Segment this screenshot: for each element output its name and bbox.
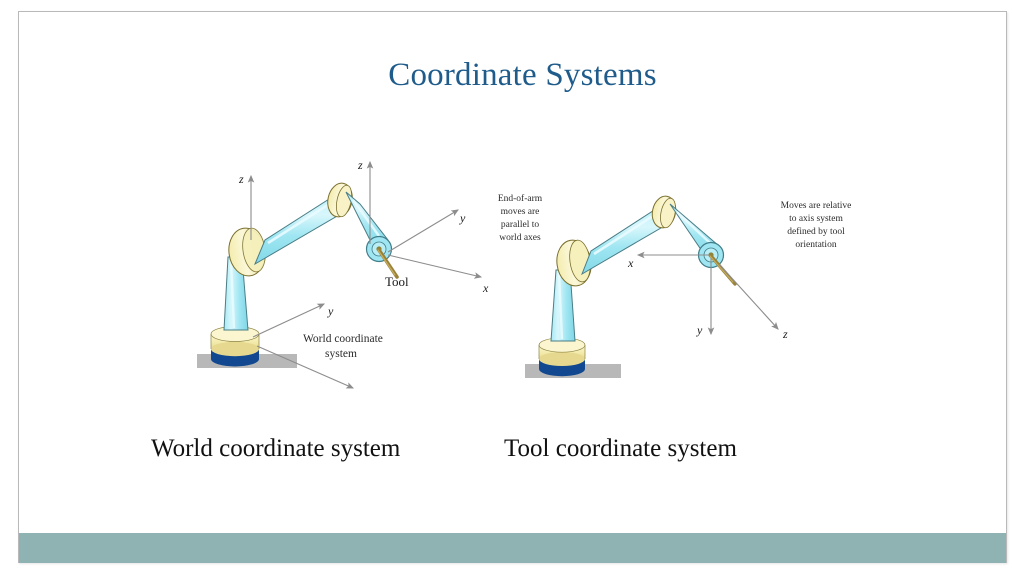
- annotation-right-line-3: defined by tool: [787, 226, 845, 237]
- tool-y-axis: y: [696, 258, 711, 337]
- robot-lower-link: [224, 257, 248, 330]
- robot-forearm: [346, 192, 388, 250]
- annotation-right-line-1: Moves are relative: [781, 201, 852, 211]
- tool-label: Tool: [385, 274, 409, 289]
- axis-label-tool-z: z: [782, 327, 788, 341]
- tool-callout: Tool: [385, 274, 409, 289]
- slide-root: Coordinate Systems: [0, 0, 1024, 576]
- caption-tool-coordinate-system: Tool coordinate system: [504, 435, 737, 463]
- robot-elbow-joint-right: [649, 194, 678, 230]
- tool-coordinate-diagram: x y z Moves are relative: [525, 194, 851, 378]
- world-label-line-1: World coordinate: [303, 333, 383, 345]
- axis-label-end-x: x: [482, 281, 489, 295]
- annotation-right-line-2: to axis system: [789, 214, 843, 224]
- axis-label-end-y: y: [459, 211, 466, 225]
- robot-tool-right: [710, 256, 735, 284]
- end-of-arm-annotation: End-of-arm moves are parallel to world a…: [498, 193, 543, 243]
- world-label-line-2: system: [325, 348, 357, 360]
- annotation-right-line-4: orientation: [795, 240, 836, 250]
- axis-label-end-z: z: [357, 158, 363, 172]
- robot-tool: [378, 250, 397, 277]
- caption-world-coordinate-system: World coordinate system: [151, 435, 400, 463]
- robot-lower-link-right: [551, 270, 575, 341]
- page-title: Coordinate Systems: [19, 57, 1006, 94]
- diagram-stage: z z y x: [19, 12, 1008, 564]
- world-y-axis: y: [253, 304, 334, 337]
- floor-plate: [197, 354, 297, 368]
- robot-upper-arm-right: [582, 207, 666, 274]
- floor-plate-right: [525, 364, 621, 378]
- robot-elbow-joint: [325, 181, 356, 219]
- end-of-arm-z-axis: z: [357, 158, 370, 244]
- annotation-line-2: moves are: [501, 207, 540, 217]
- world-coordinate-diagram: z z y x: [197, 158, 543, 388]
- annotation-line-4: world axes: [499, 233, 541, 243]
- axis-label-tool-y: y: [696, 323, 703, 337]
- robot-wrist-right: [699, 243, 724, 268]
- robot-shoulder-joint-right: [554, 238, 594, 288]
- base-z-axis: z: [238, 172, 251, 240]
- annotation-line-1: End-of-arm: [498, 193, 543, 204]
- bottom-accent-band: [19, 533, 1006, 563]
- tool-x-axis: x: [627, 255, 709, 270]
- slide-frame: Coordinate Systems: [18, 11, 1007, 563]
- axis-label-base-z: z: [238, 172, 244, 186]
- tool-orientation-annotation: Moves are relative to axis system define…: [781, 201, 852, 250]
- axis-label-tool-x: x: [627, 256, 634, 270]
- robot-shoulder-joint: [226, 226, 268, 279]
- world-coordinate-label: World coordinate system: [303, 333, 383, 360]
- axis-label-world-y: y: [327, 304, 334, 318]
- end-of-arm-x-axis: x: [388, 255, 489, 295]
- tool-z-axis: z: [719, 264, 788, 341]
- robot-forearm-right: [670, 204, 719, 257]
- robot-wrist: [367, 237, 392, 262]
- end-of-arm-y-axis: y: [388, 210, 466, 252]
- world-x-axis: [257, 346, 353, 388]
- robot-upper-arm: [255, 194, 344, 264]
- robot-base: [211, 327, 259, 367]
- robot-base-right: [539, 338, 585, 376]
- annotation-line-3: parallel to: [501, 220, 539, 230]
